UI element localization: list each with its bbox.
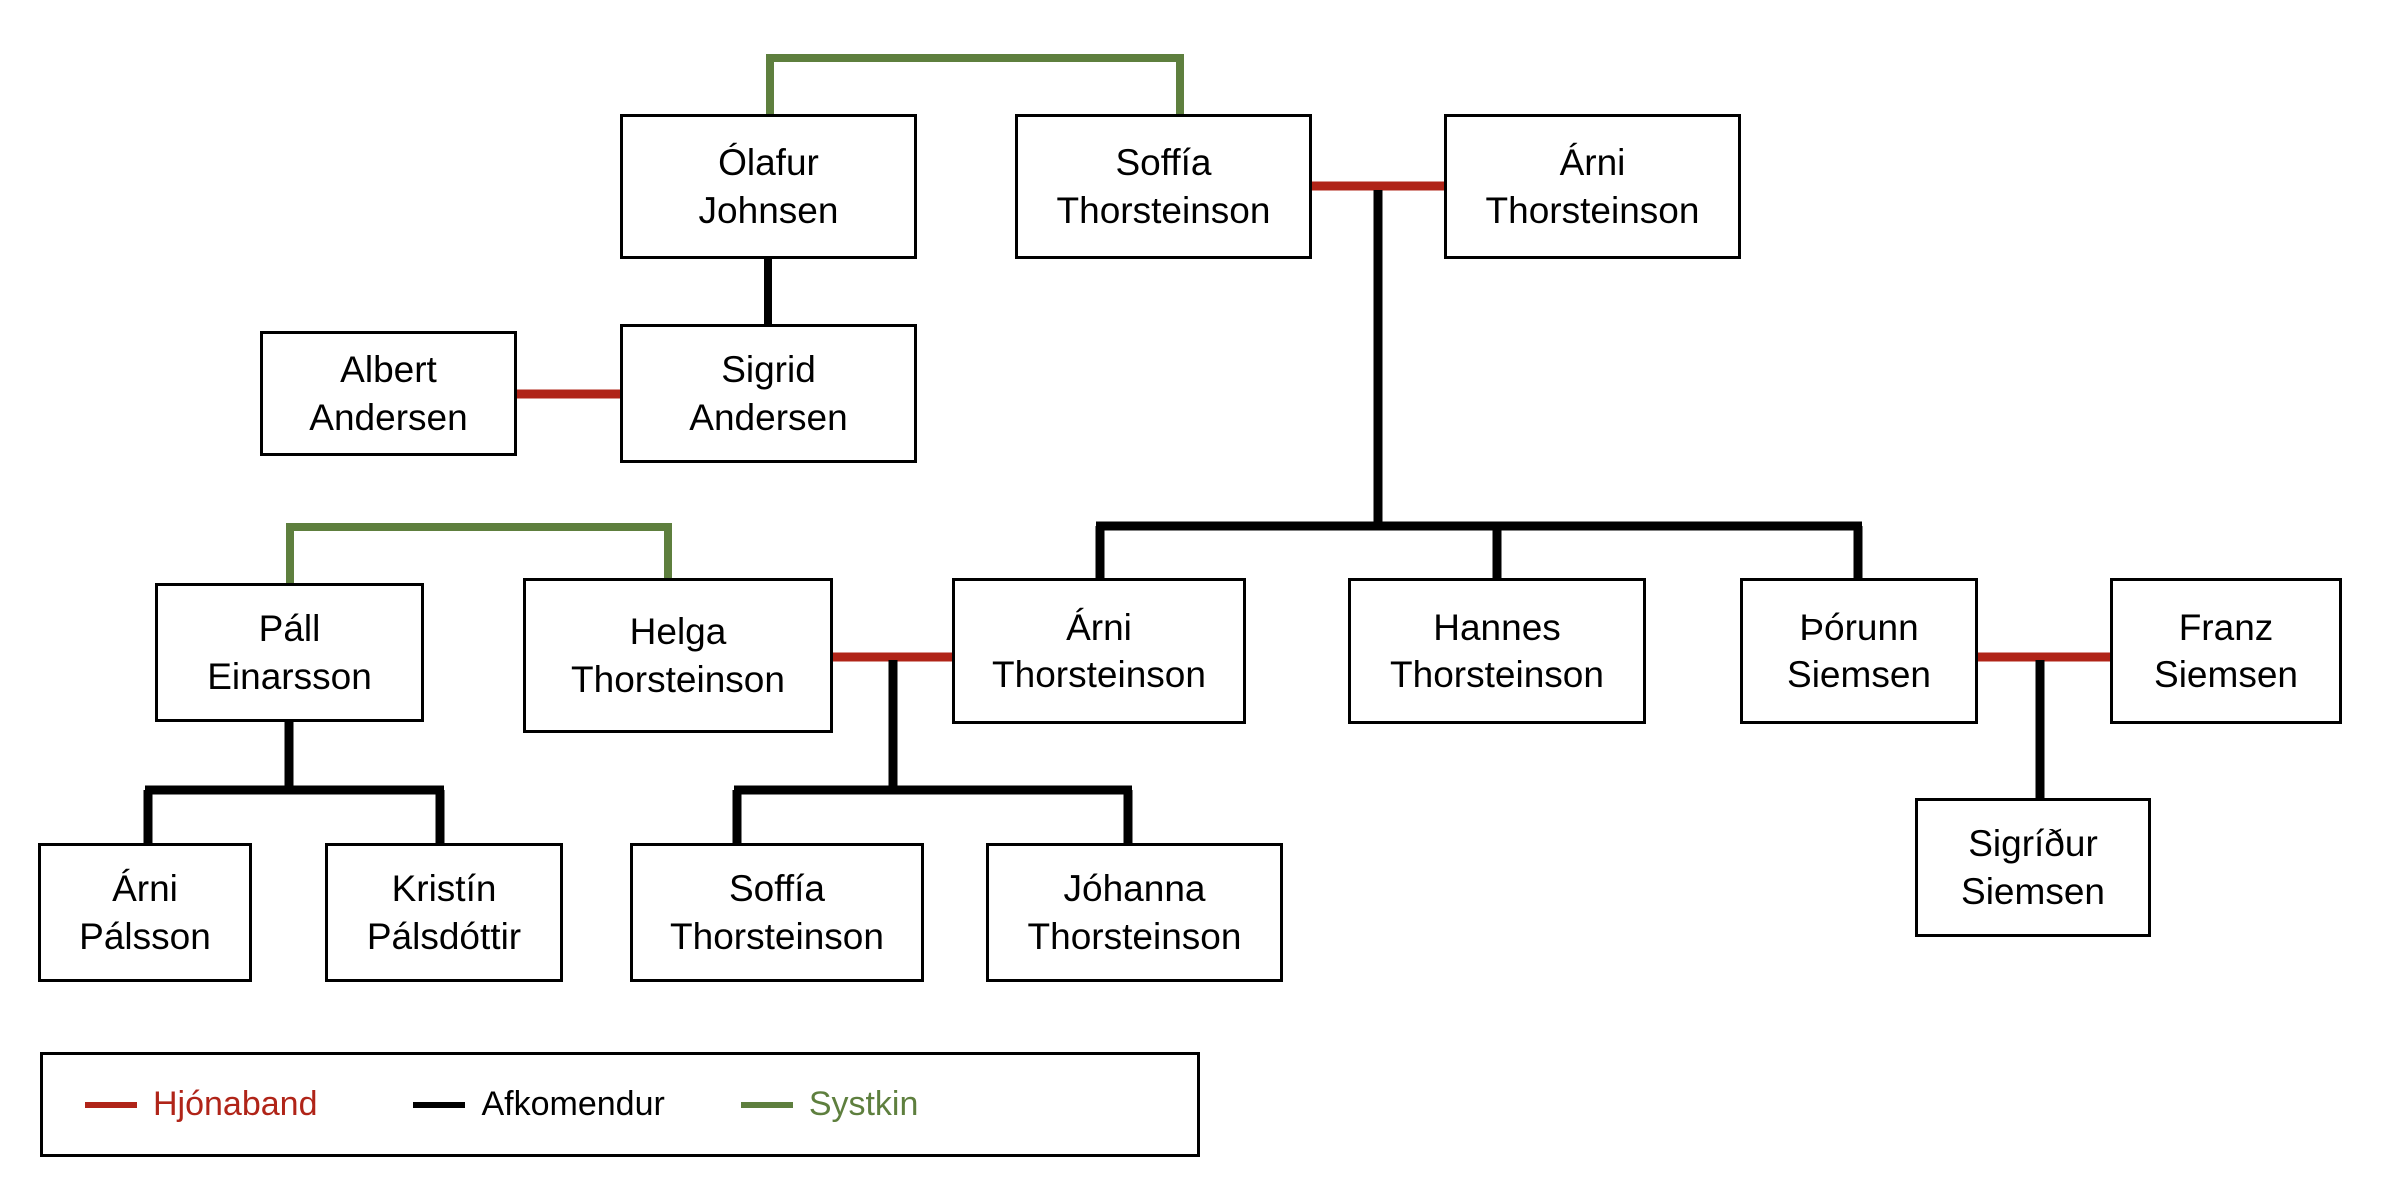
person-family-name: Thorsteinson — [1028, 913, 1242, 960]
person-family-name: Pálsdóttir — [367, 913, 521, 960]
person-given-name: Páll — [259, 605, 321, 652]
person-family-name: Thorsteinson — [670, 913, 884, 960]
person-family-name: Thorsteinson — [1057, 187, 1271, 234]
person-family-name: Thorsteinson — [571, 656, 785, 703]
legend-item-marriage[interactable]: Hjónaband — [85, 1085, 317, 1124]
person-given-name: Kristín — [392, 865, 497, 912]
legend-label-sibling: Systkin — [809, 1085, 919, 1124]
person-given-name: Jóhanna — [1064, 865, 1206, 912]
person-node-arni-thorsteinson-sr[interactable]: Árni Thorsteinson — [1444, 114, 1741, 259]
legend-swatch-marriage-line — [85, 1102, 137, 1108]
person-node-hannes-thorsteinson[interactable]: Hannes Thorsteinson — [1348, 578, 1646, 724]
person-given-name: Árni — [112, 865, 178, 912]
legend-swatch-sibling-line — [741, 1102, 793, 1108]
family-tree-diagram: Ólafur Johnsen Soffía Thorsteinson Árni … — [0, 0, 2406, 1182]
person-node-arni-palsson[interactable]: Árni Pálsson — [38, 843, 252, 982]
person-family-name: Johnsen — [699, 187, 839, 234]
person-node-thorunn-siemsen[interactable]: Þórunn Siemsen — [1740, 578, 1978, 724]
descent-pall-to-children — [145, 722, 444, 845]
person-given-name: Þórunn — [1799, 604, 1918, 651]
person-family-name: Thorsteinson — [1390, 651, 1604, 698]
person-given-name: Albert — [340, 346, 437, 393]
person-given-name: Sigrid — [721, 346, 816, 393]
person-family-name: Siemsen — [1787, 651, 1931, 698]
person-node-sigridur-siemsen[interactable]: Sigríður Siemsen — [1915, 798, 2151, 937]
person-family-name: Siemsen — [2154, 651, 2298, 698]
person-given-name: Árni — [1066, 604, 1132, 651]
person-given-name: Ólafur — [718, 139, 819, 186]
person-given-name: Soffía — [1115, 139, 1211, 186]
person-given-name: Árni — [1560, 139, 1626, 186]
person-family-name: Thorsteinson — [992, 651, 1206, 698]
person-family-name: Thorsteinson — [1486, 187, 1700, 234]
legend-item-sibling[interactable]: Systkin — [741, 1085, 919, 1124]
person-node-franz-siemsen[interactable]: Franz Siemsen — [2110, 578, 2342, 724]
legend-box: Hjónaband Afkomendur Systkin — [40, 1052, 1200, 1157]
person-node-johanna-thorsteinson[interactable]: Jóhanna Thorsteinson — [986, 843, 1283, 982]
person-node-sigrid-andersen[interactable]: Sigrid Andersen — [620, 324, 917, 463]
person-node-soffia-thorsteinson[interactable]: Soffía Thorsteinson — [1015, 114, 1312, 259]
sibling-connector-olafur-soffia — [770, 58, 1180, 116]
person-family-name: Einarsson — [207, 653, 372, 700]
legend-label-descendant: Afkomendur — [481, 1085, 664, 1124]
person-node-arni-thorsteinson-jr[interactable]: Árni Thorsteinson — [952, 578, 1246, 724]
person-given-name: Helga — [630, 608, 727, 655]
person-given-name: Hannes — [1433, 604, 1561, 651]
person-node-pall-einarsson[interactable]: Páll Einarsson — [155, 583, 424, 722]
person-node-olafur-johnsen[interactable]: Ólafur Johnsen — [620, 114, 917, 259]
legend-item-descendant[interactable]: Afkomendur — [413, 1085, 664, 1124]
legend-swatch-descendant-line — [413, 1102, 465, 1108]
sibling-connector-pall-helga — [290, 527, 668, 585]
person-node-albert-andersen[interactable]: Albert Andersen — [260, 331, 517, 456]
person-node-helga-thorsteinson[interactable]: Helga Thorsteinson — [523, 578, 833, 733]
person-node-soffia-thorsteinson-2[interactable]: Soffía Thorsteinson — [630, 843, 924, 982]
legend-label-marriage: Hjónaband — [153, 1085, 317, 1124]
person-given-name: Sigríður — [1968, 820, 2098, 867]
person-family-name: Andersen — [689, 394, 847, 441]
person-given-name: Soffía — [729, 865, 825, 912]
person-family-name: Andersen — [309, 394, 467, 441]
person-given-name: Franz — [2179, 604, 2274, 651]
person-family-name: Pálsson — [79, 913, 211, 960]
person-node-kristin-palsdottir[interactable]: Kristín Pálsdóttir — [325, 843, 563, 982]
person-family-name: Siemsen — [1961, 868, 2105, 915]
